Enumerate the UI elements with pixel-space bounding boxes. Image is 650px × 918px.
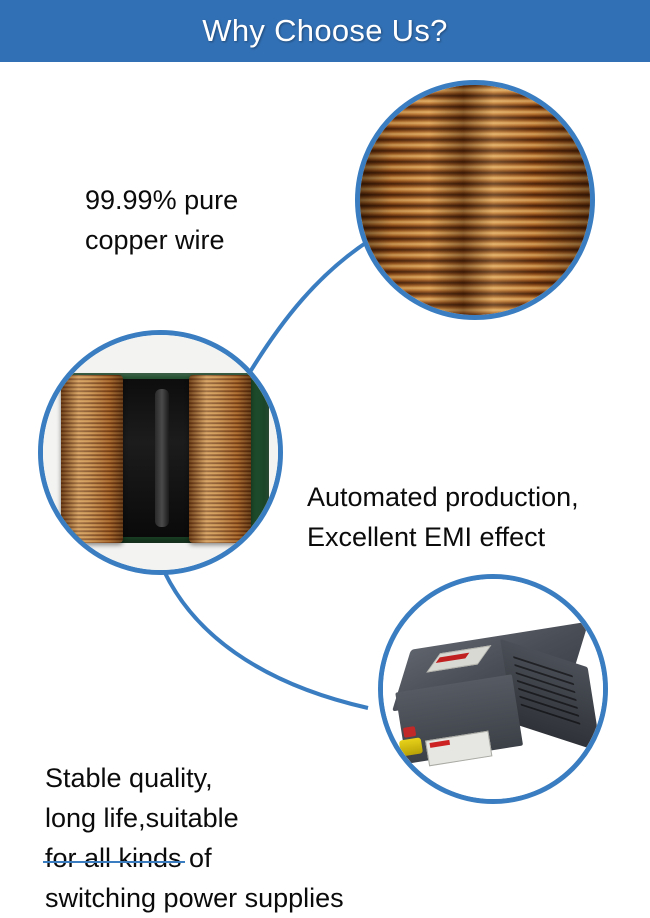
choke-winding-right (189, 375, 251, 543)
psu-yellow-terminal-cover (399, 737, 423, 756)
content-stage: 99.99% pure copper wire Automated produc… (0, 62, 650, 871)
choke-core-bar (155, 389, 169, 527)
copper-wire-coil-photo (360, 85, 590, 315)
common-mode-choke-photo (43, 335, 278, 570)
feature-caption-copper-wire: 99.99% pure copper wire (85, 180, 238, 260)
psu-power-cable (555, 574, 608, 604)
feature-image-copper-wire[interactable] (355, 80, 595, 320)
psu-red-terminal (403, 726, 416, 738)
choke-winding-left (61, 375, 123, 543)
feature-image-common-mode-choke[interactable] (38, 330, 283, 575)
page-title: Why Choose Us? (202, 13, 447, 49)
footer-divider-rule (43, 861, 185, 863)
psu-spec-label (425, 731, 492, 767)
feature-caption-automated-production: Automated production, Excellent EMI effe… (307, 477, 579, 557)
header-bar: Why Choose Us? (0, 0, 650, 62)
feature-image-switching-power-supply[interactable] (378, 574, 608, 804)
connector-arc-transformer-to-psu (160, 562, 368, 708)
psu-chassis (389, 622, 603, 770)
switching-power-supply-photo (383, 579, 603, 799)
feature-caption-stable-quality: Stable quality, long life,suitable for a… (45, 758, 344, 918)
psu-top-sticker (426, 645, 491, 673)
